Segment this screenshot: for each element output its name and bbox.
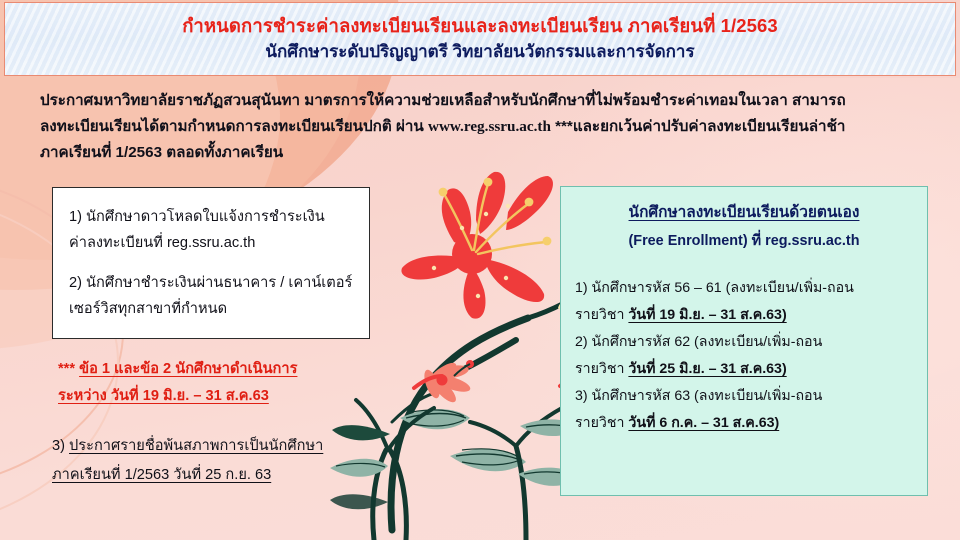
payment-steps-card: 1) นักศึกษาดาวโหลดใบแจ้งการชำระเงิน ค่าล…	[52, 187, 370, 339]
intro-line-3: ภาคเรียนที่ 1/2563 ตลอดทั้งภาคเรียน	[40, 140, 932, 166]
dismissal-text-1: ประกาศรายชื่อพ้นสภาพการเป็นนักศึกษา	[69, 438, 323, 454]
dismissal-item-number: 3)	[52, 438, 69, 454]
dismissal-line-2: ภาคเรียนที่ 1/2563 วันที่ 25 ก.ย. 63	[52, 461, 392, 490]
intro-line-2-prefix: ลงทะเบียนเรียนได้ตามกำหนดการลงทะเบียนเรี…	[40, 118, 428, 135]
enrollment-item-1-line-1: 1) นักศึกษารหัส 56 – 61 (ลงทะเบียน/เพิ่ม…	[575, 275, 927, 302]
dismissal-line-1: 3) ประกาศรายชื่อพ้นสภาพการเป็นนักศึกษา	[52, 432, 392, 461]
enrollment-item-1-line-2: รายวิชา วันที่ 19 มิ.ย. – 31 ส.ค.63)	[575, 302, 927, 329]
deadline-note-text-1: ข้อ 1 และข้อ 2 นักศึกษาดำเนินการ	[79, 361, 297, 377]
enrollment-item-3-dates: วันที่ 6 ก.ค. – 31 ส.ค.63)	[628, 415, 779, 431]
payment-step-2-line-1: 2) นักศึกษาชำระเงินผ่านธนาคาร / เคาน์เตอ…	[69, 270, 369, 296]
deadline-note-line-2: ระหว่าง วันที่ 19 มิ.ย. – 31 ส.ค.63	[58, 383, 388, 410]
enrollment-item-2-line-2: รายวิชา วันที่ 25 มิ.ย. – 31 ส.ค.63)	[575, 356, 927, 383]
payment-step-1-line-1: 1) นักศึกษาดาวโหลดใบแจ้งการชำระเงิน	[69, 204, 369, 230]
self-enrollment-title-text: นักศึกษาลงทะเบียนเรียนด้วยตนเอง	[629, 204, 860, 221]
enrollment-item-3-line-1: 3) นักศึกษารหัส 63 (ลงทะเบียน/เพิ่ม-ถอน	[575, 383, 927, 410]
card-spacer	[69, 256, 369, 270]
enrollment-item-3-prefix: รายวิชา	[575, 415, 628, 431]
header-title-primary: กำหนดการชำระค่าลงทะเบียนเรียนและลงทะเบีย…	[182, 16, 778, 36]
enrollment-item-2-prefix: รายวิชา	[575, 361, 628, 377]
enrollment-item-2-line-1: 2) นักศึกษารหัส 62 (ลงทะเบียน/เพิ่ม-ถอน	[575, 329, 927, 356]
payment-step-1-line-2: ค่าลงทะเบียนที่ reg.ssru.ac.th	[69, 230, 369, 256]
registration-url: www.reg.ssru.ac.th	[428, 118, 551, 135]
asterisks-marker: ***	[58, 361, 79, 377]
enrollment-item-2-dates: วันที่ 25 มิ.ย. – 31 ส.ค.63)	[628, 361, 786, 377]
intro-line-2-suffix: ***และยกเว้นค่าปรับค่าลงทะเบียนเรียนล่าช…	[551, 118, 846, 135]
header-banner: กำหนดการชำระค่าลงทะเบียนเรียนและลงทะเบีย…	[4, 2, 956, 76]
deadline-emphasis-note: *** ข้อ 1 และข้อ 2 นักศึกษาดำเนินการ ระห…	[58, 356, 388, 410]
deadline-note-line-1: *** ข้อ 1 และข้อ 2 นักศึกษาดำเนินการ	[58, 356, 388, 383]
payment-step-2-line-2: เซอร์วิสทุกสาขาที่กำหนด	[69, 296, 369, 322]
intro-paragraph: ประกาศมหาวิทยาลัยราชภัฏสวนสุนันทา มาตรกา…	[40, 88, 932, 166]
intro-line-2: ลงทะเบียนเรียนได้ตามกำหนดการลงทะเบียนเรี…	[40, 114, 932, 140]
dismissal-announcement-note: 3) ประกาศรายชื่อพ้นสภาพการเป็นนักศึกษา ภ…	[52, 432, 392, 490]
enrollment-item-1-dates: วันที่ 19 มิ.ย. – 31 ส.ค.63)	[628, 307, 786, 323]
intro-line-1: ประกาศมหาวิทยาลัยราชภัฏสวนสุนันทา มาตรกา…	[40, 88, 932, 114]
self-enrollment-title: นักศึกษาลงทะเบียนเรียนด้วยตนเอง	[561, 201, 927, 225]
self-enrollment-subtitle: (Free Enrollment) ที่ reg.ssru.ac.th	[561, 229, 927, 253]
header-title-secondary: นักศึกษาระดับปริญญาตรี วิทยาลัยนวัตกรรมแ…	[265, 43, 694, 62]
enrollment-item-1-prefix: รายวิชา	[575, 307, 628, 323]
poster-canvas: กำหนดการชำระค่าลงทะเบียนเรียนและลงทะเบีย…	[0, 0, 960, 540]
self-enrollment-list: 1) นักศึกษารหัส 56 – 61 (ลงทะเบียน/เพิ่ม…	[561, 275, 927, 437]
enrollment-item-3-line-2: รายวิชา วันที่ 6 ก.ค. – 31 ส.ค.63)	[575, 410, 927, 437]
self-enrollment-card: นักศึกษาลงทะเบียนเรียนด้วยตนเอง (Free En…	[560, 186, 928, 496]
